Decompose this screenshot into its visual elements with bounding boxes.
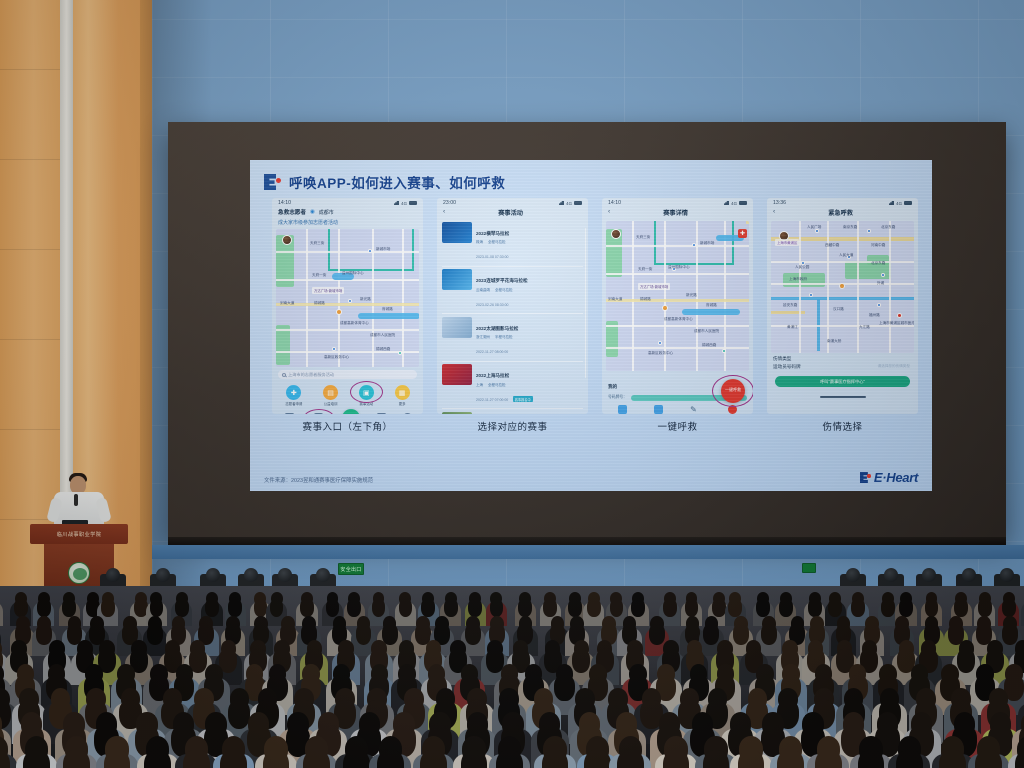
phone-mockups-row: 14:10 4G 急救志愿者 ◉ 成都市 成大家市级参 [272,198,918,433]
network-label-1: 4G [401,201,407,206]
phone-screen-1: 14:10 4G 急救志愿者 ◉ 成都市 成大家市级参 [272,198,423,414]
slide-title: 呼唤APP-如何进入赛事、如何呼救 [289,172,505,192]
pillar-edge [140,0,152,610]
audience-member-hair [36,624,52,645]
e-heart-logo: E·Heart [860,470,918,485]
map-highlight-marker [839,283,845,289]
battery-icon [904,201,912,205]
map-highlight-marker [336,309,342,315]
map-avatar-icon [282,235,292,245]
event-type: 全程马拉松 [488,240,506,245]
audience-member-hair [828,599,842,617]
tab-my-event[interactable]: 我的赛件 [726,405,739,415]
event-type: 半程马拉松 [495,335,513,340]
audience-member-hair [631,599,645,617]
section-title-3: 我的 [608,384,617,389]
event-date: 2023-01-08 07:30:00 [476,255,509,259]
status-bar-2: 23:00 4G [437,198,588,206]
tab-volunteer[interactable]: 急救志愿者 [311,413,327,414]
presentation-slide: 呼唤APP-如何进入赛事、如何呼救 14:10 4G [250,160,932,491]
grid-item-volunteer[interactable]: ✚ 志愿者申请 [285,385,302,406]
audience-member-hair [761,624,777,645]
list-item[interactable]: 2022太湖图影马拉松 浙江湖州 半程马拉松 2022-11-27 08:00:… [442,314,583,362]
battery-icon [739,201,747,205]
app-title-3: 赛事详情 [614,208,737,217]
audience-member-hair [685,599,699,617]
caption-1: 赛事入口（左下角） [302,419,392,433]
audience-member-hair [147,624,163,645]
audience-member-hair [263,750,290,768]
tab-news[interactable]: 心动空间 [375,413,388,414]
audience-member-hair [777,750,804,768]
audience-member-hair [518,599,532,617]
news-icon [377,413,386,414]
caption-4: 伤情选择 [822,419,862,433]
pencil-icon: ✎ [690,405,699,414]
event-icon: ▣ [359,385,374,400]
banner-subtitle-1: 成大家市级参加志愿者活动 [272,218,423,227]
audience-member-hair [542,750,569,768]
audience-member-hair [703,750,730,768]
phone-column-3: 14:10 4G ‹ 赛事详情 [602,198,753,433]
app-title-1: 急救志愿者 [278,208,306,216]
audience-member-hair [663,750,690,768]
event-title: 2022上海马拉松 [476,373,509,378]
event-type: 全程马拉松 [488,383,506,388]
audience-member-hair [101,599,115,617]
signal-icon [888,201,894,205]
back-arrow-icon[interactable]: ‹ [773,209,775,216]
audience-member-hair [14,599,28,617]
battery-icon [574,201,582,205]
audience-member-hair [444,599,458,617]
lectern-text: 临川战事职业学院 [57,531,102,538]
audience-member-hair [978,599,992,617]
status-icons-2: 4G [558,201,582,206]
app-header-4: ‹ 紧急呼救 [767,206,918,219]
audience-member-hair [326,599,340,617]
map-view-1[interactable]: 万达广场·新城市场 天府三街 新城市场 天府一街 益州国际中心 锦城路 剑南大道… [276,229,419,367]
phone-column-1: 14:10 4G 急救志愿者 ◉ 成都市 成大家市级参 [272,198,423,433]
event-thumbnail [442,222,472,243]
app-header-1: 急救志愿者 ◉ 成都市 [272,206,423,218]
app-header-2: ‹ 赛事活动 [437,206,588,219]
audience-member-hair [399,599,413,617]
audience-member-hair [303,750,330,768]
list-item[interactable]: 2022上海马拉松 上海 全程马拉松 2022-11-27 07:00:00 赛… [442,362,583,410]
battery-icon [409,201,417,205]
phonebook-icon [654,405,663,414]
audience-member-hair [779,599,793,617]
audience-member-hair [587,599,601,617]
event-title: 2022横琴马拉松 [476,231,509,236]
event-date: 2022-11-27 07:00:00 [476,398,508,402]
grid-item-more[interactable]: ▦ 更多 [395,385,410,406]
audience-member-hair [372,599,386,617]
call-dispatch-button[interactable]: 呼叫"赛事医疗指挥中心" [775,376,910,387]
exit-sign-label: 安全出口 [340,566,361,573]
audience-member-hair [939,750,966,768]
audience-member-hair [228,599,242,617]
list-item[interactable]: 2022 TNRK100 上海 上海 越野赛 2022-11-06 06:00:… [442,409,583,414]
audience-member-hair [649,624,665,645]
detail-tab-bar-3: 开启跑步 电话本 ✎ 报名动单 [602,401,753,415]
audience-member-hair [975,750,1002,768]
bib-number-label: 号码牌号： [608,395,627,400]
back-arrow-icon[interactable]: ‹ [443,209,445,216]
event-thumbnail [442,317,472,338]
lectern-nameplate: 临川战事职业学院 [30,524,128,544]
map-emergency-pin: ✚ [738,229,747,238]
audience-member-hair [356,624,372,645]
audience-member-hair [756,599,770,617]
audience-member-hair [957,649,975,673]
sos-wrap-3: 一键呼救 [721,379,745,403]
audience-member-hair [420,750,447,768]
message-icon [314,413,323,414]
projection-screen-frame: 呼唤APP-如何进入赛事、如何呼救 14:10 4G [168,122,1006,537]
audience-member-hair [254,599,268,617]
audience-member-hair [37,599,51,617]
audience-member-hair [300,599,314,617]
list-item[interactable]: 2023连城罗平花海马拉松 云南曲靖 全程马拉松 2023-02-26 08:3… [442,267,583,315]
microphone-icon [74,494,78,506]
status-time-3: 14:10 [608,200,621,206]
e-heart-wordmark: E·Heart [874,470,918,485]
event-city: 珠海 [476,240,483,245]
event-title: 2022太湖图影马拉松 [476,326,518,331]
status-time-1: 14:10 [278,200,291,206]
tab-phonebook[interactable]: 电话本 [654,405,664,415]
audience-member-hair [858,750,885,768]
triage-line-1: 伤情类型 [767,355,918,363]
tab-bar-1: 急救中心 急救志愿者 一键呼救 [272,406,423,414]
training-icon: ▤ [323,385,338,400]
tab-profile[interactable]: 我的 [403,413,412,414]
audience-member-hair [104,750,131,768]
audience-seating [0,586,1024,768]
audience-member-hair [554,675,574,701]
scrollbar-2[interactable] [585,228,587,378]
app-header-3: ‹ 赛事详情 [602,206,753,219]
sos-button[interactable]: 一键呼救 [721,379,745,403]
audience-member-hair [205,599,219,617]
audience-member-hair [62,599,76,617]
audience-member-hair [490,599,504,617]
audience-member-hair [663,599,677,617]
search-placeholder-1: 上海市的志愿者服务活动 [288,372,334,378]
city-label-1: 成都市 [319,209,334,216]
audience-member-hair [733,624,749,645]
audience-member-hair [808,599,822,617]
audience-member-hair [881,599,895,617]
audience-member-hair [183,750,210,768]
audience-member-hair [220,750,247,768]
e-heart-logo-icon [264,174,281,190]
audience-member-hair [728,599,742,617]
event-title: 2023连城罗平花海马拉松 [476,278,528,283]
status-icons-1: 4G [393,201,417,206]
audience-member-hair [468,599,482,617]
conference-hall-photo: 呼唤APP-如何进入赛事、如何呼救 14:10 4G [0,0,1024,768]
audience-member-hair [703,624,719,645]
signal-icon [723,201,729,205]
audience-member-hair [63,750,90,768]
event-city: 云南曲靖 [476,288,490,293]
audience-member-hair [1002,624,1018,645]
profile-icon [403,413,412,414]
phone-column-2: 23:00 4G ‹ 赛事活动 [437,198,588,433]
status-time-4: 13:36 [773,200,786,206]
network-label-2: 4G [566,201,572,206]
event-date: 2022-11-27 08:00:00 [476,350,508,354]
audience-member-hair [421,599,435,617]
back-arrow-icon[interactable]: ‹ [608,209,610,216]
phone-column-4: 13:36 4G ‹ 紧急呼救 [767,198,918,433]
audience-member-hair [343,750,370,768]
status-bar-1: 14:10 4G [272,198,423,206]
status-bar-4: 13:36 4G [767,198,918,206]
tab-start-run[interactable]: 开启跑步 [616,405,629,415]
audience-member-hair [347,599,361,617]
home-icon [285,413,294,414]
my-event-icon [728,405,737,414]
audience-member-hair [896,750,923,768]
network-label-3: 4G [731,201,737,206]
audience-member-hair [572,649,590,673]
tab-sos[interactable]: 一键呼救 [342,409,360,414]
signal-icon [393,201,399,205]
network-label-4: 4G [896,201,902,206]
audience-member-hair [23,750,50,768]
tab-home[interactable]: 急救中心 [283,413,296,414]
audience-member-hair [150,599,164,617]
run-icon [618,405,627,414]
audience-member-hair [568,599,582,617]
event-thumbnail [442,412,472,415]
audience-member-hair [851,599,865,617]
event-city: 浙江湖州 [476,335,490,340]
status-badge: 赛事报名中 [513,396,533,402]
caption-3: 一键呼救 [657,419,697,433]
audience-member-hair [228,700,250,729]
grid-item-event[interactable]: ▣ 赛事活动 [359,385,374,406]
phone-screen-4: 13:36 4G ‹ 紧急呼救 [767,198,918,414]
triage-hint: 请选择您的伤情类型 [878,364,910,369]
map-view-4[interactable]: 上海市黄浦区 人民广场 南京东路 北京东路 [771,221,914,353]
more-icon: ▦ [395,385,410,400]
audience-member-hair [712,599,726,617]
slide-header: 呼唤APP-如何进入赛事、如何呼救 [264,172,505,192]
event-date: 2023-02-26 08:30:00 [476,303,509,307]
app-title-4: 紧急呼救 [779,208,902,217]
caption-2: 选择对应的赛事 [477,419,547,433]
event-list: 2022横琴马拉松 珠海 全程马拉松 2023-01-08 07:30:00 [437,219,588,414]
audience-member-hair [377,750,404,768]
audience-member-hair [584,750,611,768]
map-view-3[interactable]: ✚ 万达广场·新城市场 天府三街 新城市场 天府一街 益州国际中心 锦城路 剑南… [606,221,749,371]
tab-signup[interactable]: ✎ 报名动单 [688,405,701,415]
search-icon [282,373,286,377]
grid-item-training[interactable]: ▤ 公益培训 [323,385,338,406]
audience-member-hair [815,750,842,768]
phone-screen-3: 14:10 4G ‹ 赛事详情 [602,198,753,414]
audience-member-hair [899,599,913,617]
signal-icon [558,201,564,205]
event-type: 全程马拉松 [495,288,513,293]
audience-member-hair [617,750,644,768]
app-title-2: 赛事活动 [449,208,572,217]
audience-member-hair [175,599,189,617]
audience-member-hair [738,750,765,768]
sos-button-icon[interactable]: 一键呼救 [342,409,360,414]
audience-member-hair [144,750,171,768]
first-aid-icon: ✚ [286,385,301,400]
audience-member-hair [461,750,488,768]
map-avatar-icon [611,229,621,239]
status-time-2: 23:00 [443,200,456,206]
shortcut-grid-1: ✚ 志愿者申请 ▤ 公益培训 ▣ 赛事活动 [272,382,423,406]
audience-member-hair [543,599,557,617]
audience-member-hair [496,750,523,768]
audience-member-hair [465,624,481,645]
audience-member-hair [954,599,968,617]
exit-sign [802,563,816,573]
audience-member-hair [610,599,624,617]
map-hospital-marker [897,313,902,318]
home-indicator-4 [820,396,866,398]
audience-member-hair [1002,599,1016,617]
audience-member-hair [925,599,939,617]
event-thumbnail [442,269,472,290]
location-pin-icon: ◉ [310,209,315,215]
e-heart-mark-icon [860,472,871,483]
exit-sign: 安全出口 [338,563,364,575]
phone-screen-2: 23:00 4G ‹ 赛事活动 [437,198,588,414]
event-thumbnail [442,364,472,385]
slide-footer-source: 文件来源：2023昱和通赛事医疗保障实施规范 [264,476,373,484]
event-city: 上海 [476,383,483,388]
status-icons-3: 4G [723,201,747,206]
status-bar-3: 14:10 4G [602,198,753,206]
status-icons-4: 4G [888,201,912,206]
search-input-1[interactable]: 上海市的志愿者服务活动 [278,370,417,379]
map-highlight-marker [662,305,668,311]
list-item[interactable]: 2022横琴马拉松 珠海 全程马拉松 2023-01-08 07:30:00 [442,219,583,267]
